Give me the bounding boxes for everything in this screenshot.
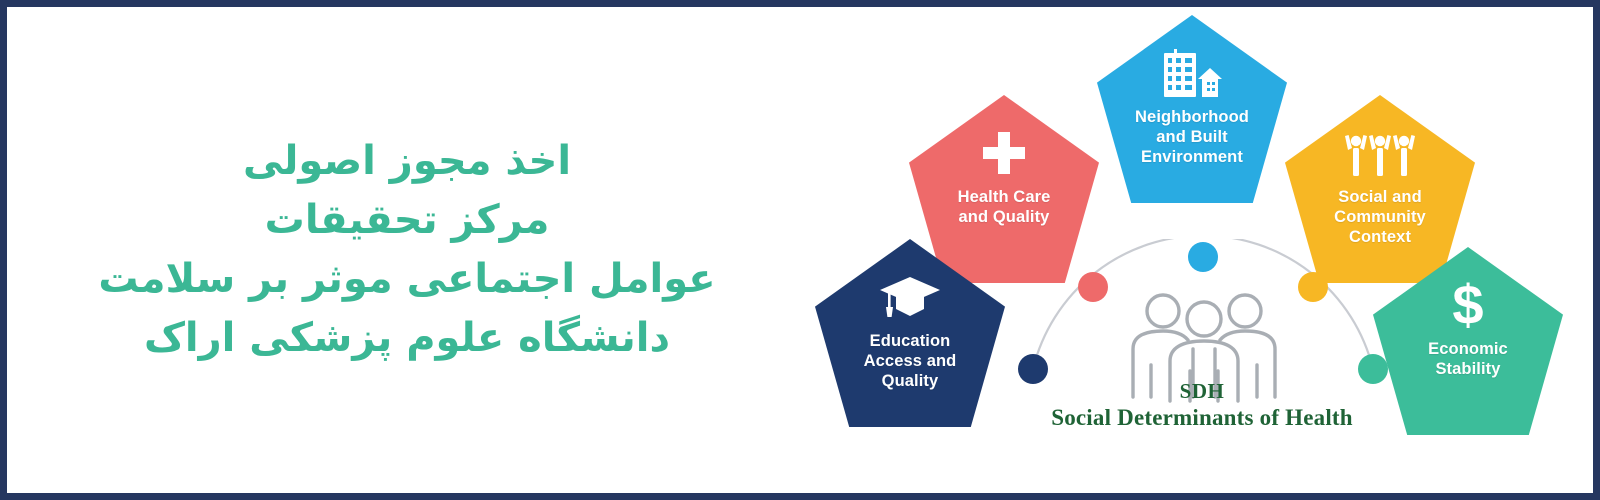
label-line: Health Care xyxy=(958,187,1051,207)
banner-line-4: دانشگاه علوم پزشکی اراک xyxy=(144,312,670,365)
label-line: Community xyxy=(1334,207,1426,227)
label-line: Quality xyxy=(864,371,957,391)
dot-education[interactable] xyxy=(1018,354,1048,384)
label-line: Education xyxy=(864,331,957,351)
pentagon-neighborhood-and-built-environment[interactable]: Neighborhood and Built Environment xyxy=(1097,15,1287,203)
pentagon-label: Neighborhood and Built Environment xyxy=(1135,107,1249,167)
dot-neighborhood[interactable] xyxy=(1188,242,1218,272)
dot-economic[interactable] xyxy=(1358,354,1388,384)
center-arc-group xyxy=(1003,239,1403,489)
medical-cross-icon xyxy=(979,125,1029,181)
pentagon-label: Education Access and Quality xyxy=(864,331,957,391)
label-line: Economic xyxy=(1428,339,1508,359)
label-line: and Built xyxy=(1135,127,1249,147)
svg-text:$: $ xyxy=(1452,277,1483,333)
label-line: Access and xyxy=(864,351,957,371)
label-line: and Quality xyxy=(958,207,1051,227)
banner-page: اخذ مجوز اصولی مرکز تحقیقات عوامل اجتماع… xyxy=(0,0,1600,500)
label-line: Environment xyxy=(1135,147,1249,167)
banner-line-3: عوامل اجتماعی موثر بر سلامت xyxy=(98,253,715,306)
label-line: Neighborhood xyxy=(1135,107,1249,127)
pentagon-label: Economic Stability xyxy=(1428,339,1508,379)
label-line: Stability xyxy=(1428,359,1508,379)
sdh-infographic: Health Care and Quality xyxy=(807,7,1593,493)
persian-banner-text: اخذ مجوز اصولی مرکز تحقیقات عوامل اجتماع… xyxy=(7,7,807,493)
pentagon-body: Neighborhood and Built Environment xyxy=(1097,15,1287,203)
dot-social[interactable] xyxy=(1298,272,1328,302)
building-house-icon xyxy=(1158,45,1226,101)
graduation-cap-icon xyxy=(878,269,942,325)
pentagon-label: Health Care and Quality xyxy=(958,187,1051,227)
banner-line-2: مرکز تحقیقات xyxy=(265,194,550,247)
sdh-full-title: Social Determinants of Health xyxy=(967,404,1437,432)
dollar-sign-icon: $ xyxy=(1445,277,1491,333)
banner-line-1: اخذ مجوز اصولی xyxy=(243,135,571,188)
label-line: Social and xyxy=(1334,187,1426,207)
three-people-raised-arms-icon xyxy=(1342,125,1418,181)
dot-healthcare[interactable] xyxy=(1078,272,1108,302)
arc-dots xyxy=(1003,239,1403,399)
